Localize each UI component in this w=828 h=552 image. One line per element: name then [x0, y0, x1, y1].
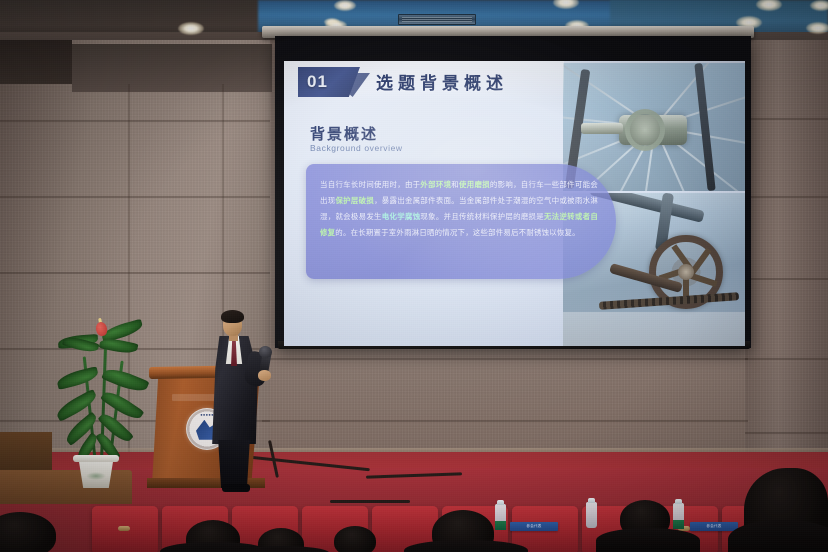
bicycle-hub-rust-photo	[563, 63, 745, 191]
slide-body-box: 当自行车长时间使用时，由于外部环境和使用磨损的影响，自行车一些部件可能会出现保护…	[306, 164, 616, 279]
wall-seam	[0, 196, 270, 198]
bicycle-axle	[581, 123, 623, 134]
ceiling-downlight	[178, 22, 204, 35]
bottle-cap	[675, 499, 682, 504]
ceiling-downlight	[806, 22, 828, 34]
seat-placard: 参会代表	[690, 522, 738, 531]
water-bottle	[586, 502, 597, 528]
projected-slide: 01 选题背景概述 背景概述 Background overview 当自行车长…	[284, 61, 745, 346]
ceiling-downlight	[810, 0, 828, 11]
placard-text: 参会代表	[510, 522, 558, 531]
wall-texture	[745, 40, 828, 470]
bottle-cap	[497, 500, 504, 505]
plant-pot-rim	[73, 455, 119, 462]
audience-head-silhouette	[334, 526, 376, 552]
conference-photo-scene: 01 选题背景概述 背景概述 Background overview 当自行车长…	[0, 0, 828, 552]
placard-text: 参会代表	[690, 522, 738, 531]
floor-cable	[330, 500, 410, 503]
ceiling-downlight	[334, 0, 356, 11]
bottle-label	[673, 520, 684, 529]
ceiling-air-vent	[398, 14, 476, 25]
slide-heading-en: Background overview	[310, 143, 403, 153]
audience-shoulders-silhouette	[596, 528, 700, 552]
stage-step-upper	[0, 432, 52, 474]
wall-seam	[0, 272, 270, 274]
slide-heading-cn: 背景概述	[310, 123, 378, 144]
speaker-hand	[258, 370, 271, 381]
slide-body-text: 当自行车长时间使用时，由于外部环境和使用磨损的影响，自行车一些部件可能会出现保护…	[320, 177, 598, 241]
wall-seam	[745, 196, 828, 198]
seat-hinge-knob	[118, 526, 130, 531]
bottle-label	[495, 521, 506, 530]
wall-seam	[0, 120, 270, 122]
speaker-shoes	[222, 484, 250, 492]
wall-seam	[745, 358, 828, 360]
wall-seam	[262, 420, 748, 422]
wall-dark-strip	[0, 40, 72, 84]
chainring-bolt	[678, 264, 694, 280]
audience-shoulders-silhouette	[728, 520, 828, 552]
bicycle-hub-flange	[625, 109, 665, 151]
section-number-text: 01	[307, 72, 328, 92]
wall-seam	[262, 358, 748, 360]
bottle-cap	[588, 498, 595, 503]
wall-seam	[745, 278, 828, 280]
photo-ground	[563, 312, 745, 346]
wall-seam	[745, 432, 828, 434]
wall-seam	[745, 118, 828, 120]
speaker-legs	[216, 440, 252, 488]
stage-step	[0, 470, 132, 504]
wall-upper-band	[72, 44, 272, 92]
slide-section-title: 选题背景概述	[376, 69, 508, 94]
seat-placard: 参会代表	[510, 522, 558, 531]
plant-pot-decoration	[86, 472, 106, 480]
speaker-hair	[221, 310, 244, 323]
back-wall-right-section	[745, 40, 828, 470]
